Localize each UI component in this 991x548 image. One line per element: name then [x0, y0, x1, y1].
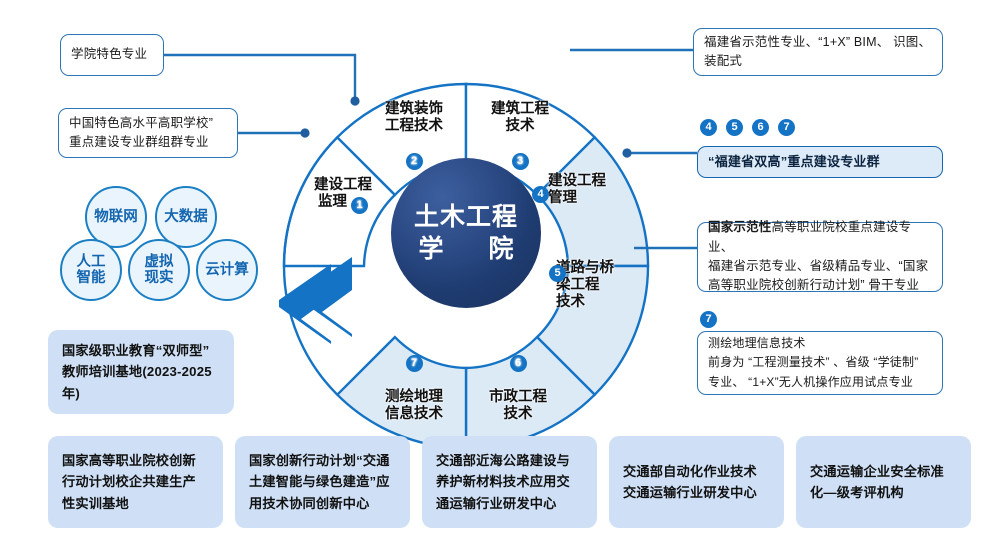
badge-7: 7: [778, 119, 795, 136]
connector-left-top: [162, 55, 360, 106]
hub-circle[interactable]: 土木工程 学 院: [391, 158, 541, 308]
card-bottom-4[interactable]: 交通部自动化作业技术交通运输行业研发中心: [609, 436, 784, 528]
callout-right-2[interactable]: “福建省双高”重点建设专业群: [697, 146, 943, 178]
segment-label-2: 建筑装饰 工程技术 2: [364, 84, 464, 170]
segment-badge-5: 5: [549, 265, 566, 282]
segment-badge-1: 1: [351, 197, 368, 214]
callout-right-1[interactable]: 福建省示范性专业、“1+X” BIM、 识图、 装配式: [693, 28, 943, 76]
callout-right-2-badges: 4 5 6 7: [700, 119, 795, 136]
bubble-ai[interactable]: 人工 智能: [60, 239, 122, 301]
segment-badge-3: 3: [512, 153, 529, 170]
infographic-canvas: 土木工程 学 院 建设工程 监理1 建筑装饰 工程技术 2 建筑工程 技术 3 …: [0, 0, 991, 548]
segment-label-6: 6 市政工程 技术: [469, 337, 567, 423]
segment-badge-2: 2: [406, 153, 423, 170]
card-bottom-3[interactable]: 交通部近海公路建设与养护新材料技术应用交通运输行业研发中心: [422, 436, 597, 528]
callout-right-3[interactable]: 国家示范性高等职业院校重点建设专业、 福建省示范专业、省级精品专业、“国家 高等…: [697, 222, 943, 292]
connector-left-mid: [236, 128, 310, 137]
badge-6: 6: [752, 119, 769, 136]
segment-label-5: 道路与桥 梁工程 技术: [556, 243, 642, 311]
segment-label-4: 建设工程 管理: [548, 156, 640, 207]
bubble-vr[interactable]: 虚拟 现实: [128, 239, 190, 301]
card-bottom-2[interactable]: 国家创新行动计划“交通土建智能与绿色建造”应用技术协同创新中心: [235, 436, 410, 528]
segment-label-7: 7 测绘地理 信息技术: [364, 337, 464, 423]
card-teacher-training-base[interactable]: 国家级职业教育“双师型” 教师培训基地(2023-2025年): [48, 330, 234, 414]
segment-badge-6: 6: [510, 355, 527, 372]
hub-line1: 土木工程: [414, 201, 518, 233]
bubble-cloud[interactable]: 云计算: [196, 239, 258, 301]
callout-right-4-badge: 7: [700, 311, 717, 328]
badge-4: 4: [700, 119, 717, 136]
double-chevron-left-icon: [279, 257, 352, 344]
callout-right-3-strong: 国家示范性: [708, 220, 772, 234]
segment-badge-7: 7: [406, 355, 423, 372]
callout-right-4[interactable]: 测绘地理信息技术 前身为 “工程测量技术” 、省级 “学徒制” 专业、 “1+X…: [697, 331, 943, 395]
card-bottom-1[interactable]: 国家高等职业院校创新行动计划校企共建生产性实训基地: [48, 436, 223, 528]
segment-badge-4: 4: [532, 186, 549, 203]
callout-left-mid[interactable]: 中国特色高水平高职学校” 重点建设专业群组群专业: [58, 108, 238, 158]
card-bottom-5[interactable]: 交通运输企业安全标准化—级考评机构: [796, 436, 971, 528]
hub-line2: 学 院: [408, 233, 523, 265]
callout-left-top[interactable]: 学院特色专业: [60, 34, 164, 76]
badge-5: 5: [726, 119, 743, 136]
